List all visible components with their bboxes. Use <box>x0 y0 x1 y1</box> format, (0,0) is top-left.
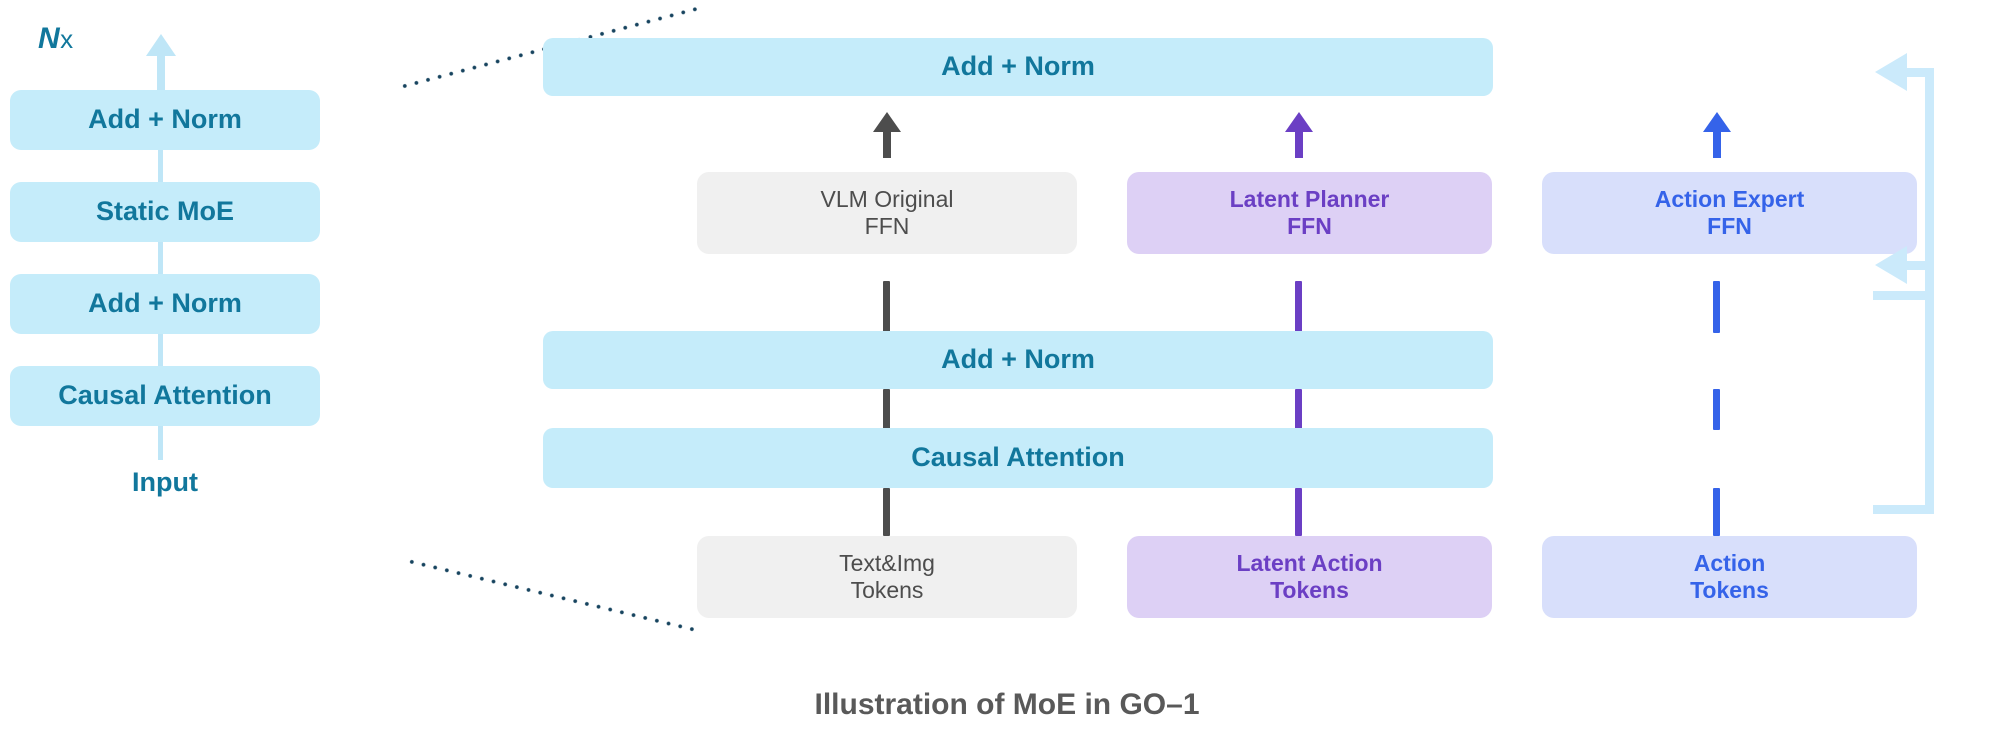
token-box-action: ActionTokens <box>1542 536 1917 618</box>
residual-lower-horizontal <box>1873 505 1934 514</box>
token-box-text-img: Text&ImgTokens <box>697 536 1077 618</box>
token-label-text-img: Text&ImgTokens <box>839 550 935 604</box>
left-connector-2 <box>158 242 163 274</box>
repeat-count-label: Nx <box>38 22 74 56</box>
connector-midnorm-to-latent-planner-ffn <box>1295 281 1302 333</box>
connector-latent-tokens-to-attn <box>1295 488 1302 536</box>
left-connector-1 <box>158 150 163 182</box>
residual-upper-arrowhead <box>1873 49 1917 95</box>
arrow-action-expert-ffn-to-add-norm <box>1700 110 1734 158</box>
input-label: Input <box>10 467 320 498</box>
token-box-latent-action: Latent ActionTokens <box>1127 536 1492 618</box>
connector-attn-to-midnorm-text <box>883 389 890 430</box>
repeat-count-n: N <box>38 22 60 55</box>
expert-label-latent-planner-ffn: Latent PlannerFFN <box>1230 186 1390 240</box>
left-connector-3 <box>158 334 163 366</box>
token-label-action: ActionTokens <box>1690 550 1769 604</box>
connector-attn-to-midnorm-action <box>1713 389 1720 430</box>
residual-lower-vertical <box>1925 261 1934 514</box>
connector-midnorm-to-vlm-ffn <box>883 281 890 333</box>
right-causal-attention: Causal Attention <box>543 428 1493 488</box>
token-label-latent-action: Latent ActionTokens <box>1236 550 1382 604</box>
expert-label-vlm-original-ffn: VLM OriginalFFN <box>821 186 954 240</box>
right-add-norm-mid: Add + Norm <box>543 331 1493 389</box>
expert-label-action-expert-ffn: Action ExpertFFN <box>1655 186 1805 240</box>
expert-box-latent-planner-ffn: Latent PlannerFFN <box>1127 172 1492 254</box>
left-block-add-norm-top: Add + Norm <box>10 90 320 150</box>
left-block-add-norm-bottom: Add + Norm <box>10 274 320 334</box>
expert-box-vlm-original-ffn: VLM OriginalFFN <box>697 172 1077 254</box>
connector-attn-to-midnorm-latent <box>1295 389 1302 430</box>
left-connector-input <box>158 426 163 460</box>
left-block-causal-attention: Causal Attention <box>10 366 320 426</box>
diagram-canvas: Nx Add + Norm Static MoE Add + Norm Caus… <box>0 0 2014 748</box>
figure-caption: Illustration of MoE in GO–1 <box>0 688 2014 722</box>
connector-text-tokens-to-attn <box>883 488 890 536</box>
left-block-static-moe: Static MoE <box>10 182 320 242</box>
dotted-connector-bottom <box>405 557 698 634</box>
left-stack-output-arrow <box>143 30 179 94</box>
connector-action-tokens-to-attn <box>1713 488 1720 536</box>
right-add-norm-top: Add + Norm <box>543 38 1493 96</box>
arrow-latent-planner-ffn-to-add-norm <box>1282 110 1316 158</box>
residual-lower-arrowhead <box>1873 242 1917 288</box>
arrow-vlm-ffn-to-add-norm <box>870 110 904 158</box>
expert-box-action-expert-ffn: Action ExpertFFN <box>1542 172 1917 254</box>
connector-midnorm-to-action-expert-ffn <box>1713 281 1720 333</box>
repeat-count-x: x <box>60 24 74 54</box>
